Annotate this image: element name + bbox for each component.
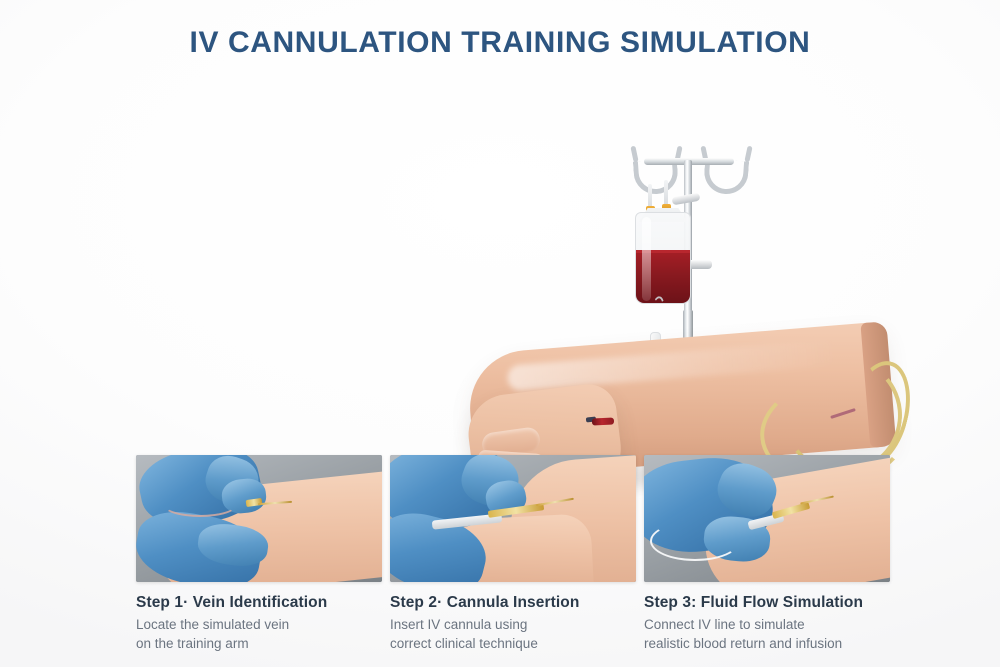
bag-body [635, 212, 691, 304]
thumb-tubing [162, 491, 238, 517]
step-card-1[interactable]: Step 1· Vein Identification Locate the s… [136, 455, 382, 653]
steps-strip: Step 1· Vein Identification Locate the s… [0, 455, 1000, 667]
page-title: IV CANNULATION TRAINING SIMULATION [0, 26, 1000, 60]
bag-gloss-highlight [642, 217, 651, 301]
cannula-hub [592, 417, 614, 425]
step-3-title: Step 3: Fluid Flow Simulation [644, 594, 890, 612]
step-1-desc-line1: Locate the simulated vein [136, 615, 382, 634]
hero-image [0, 60, 1000, 455]
step-2-title: Step 2· Cannula Insertion [390, 594, 636, 612]
hook-tip-icon [744, 146, 752, 163]
step-2-desc-line1: Insert IV cannula using [390, 615, 636, 634]
step-2-desc-line2: correct clinical technique [390, 634, 636, 653]
step-2-thumbnail[interactable] [390, 455, 636, 582]
step-1-thumbnail[interactable] [136, 455, 382, 582]
step-3-desc-line2: realistic blood return and infusion [644, 634, 890, 653]
step-3-desc-line1: Connect IV line to simulate [644, 615, 890, 634]
arm-highlight [507, 339, 838, 391]
step-card-3[interactable]: Step 3: Fluid Flow Simulation Connect IV… [644, 455, 890, 653]
bag-spike-icon [664, 180, 668, 206]
step-3-thumbnail[interactable] [644, 455, 890, 582]
thumb-iv-line [650, 521, 740, 561]
step-1-title: Step 1· Vein Identification [136, 594, 382, 612]
step-card-2[interactable]: Step 2· Cannula Insertion Insert IV cann… [390, 455, 636, 653]
step-1-desc-line2: on the training arm [136, 634, 382, 653]
hook-tip-icon [630, 146, 638, 163]
